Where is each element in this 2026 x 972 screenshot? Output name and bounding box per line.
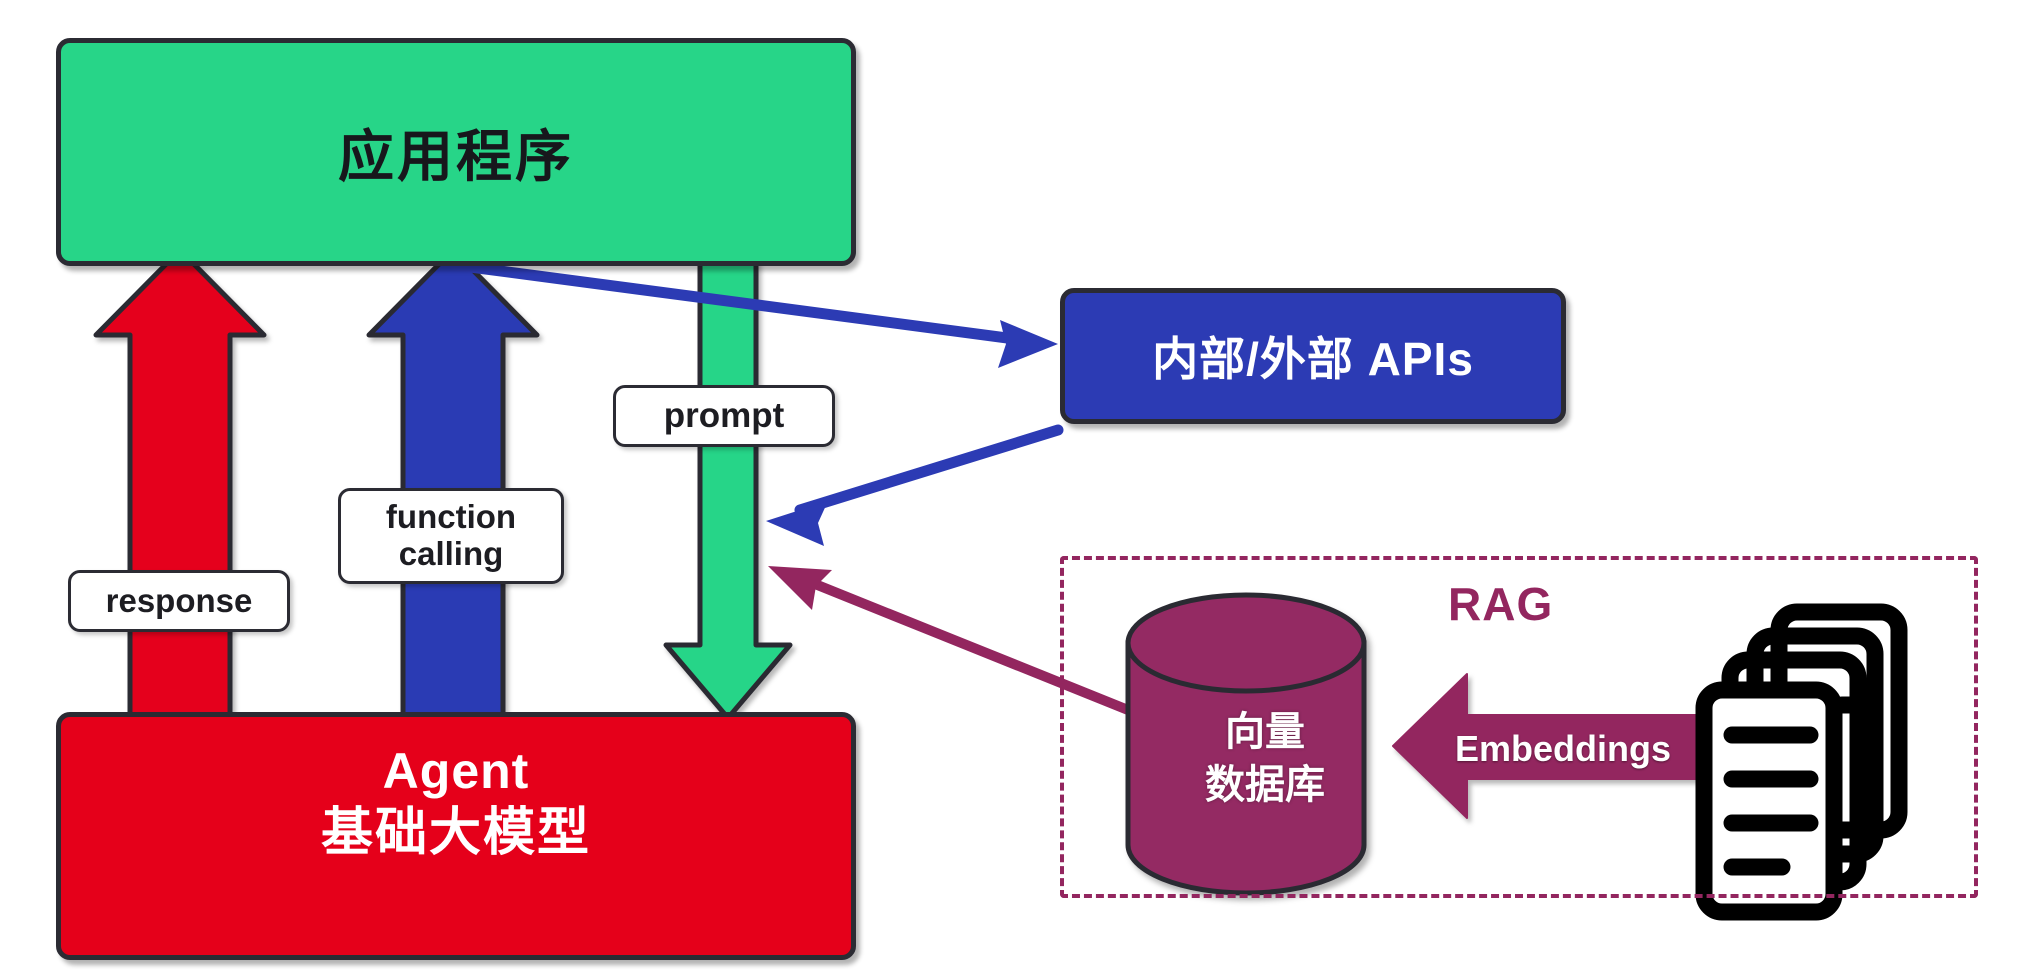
prompt-label-tag[interactable]: prompt (613, 385, 835, 447)
prompt-label-text: prompt (664, 396, 785, 435)
response-label-tag[interactable]: response (68, 570, 290, 632)
application-node[interactable]: 应用程序 (56, 38, 856, 266)
apis-label: 内部/外部 APIs (1152, 323, 1474, 389)
agent-node[interactable]: Agent 基础大模型 (56, 712, 856, 960)
apis-node[interactable]: 内部/外部 APIs (1060, 288, 1566, 424)
function-calling-label-line1: function (386, 499, 516, 536)
response-arrow (96, 250, 264, 730)
rag-group-label: RAG (1448, 577, 1553, 631)
diagram-canvas: 应用程序 Agent 基础大模型 内部/外部 APIs response fun… (0, 0, 2026, 972)
agent-label-line1: Agent (383, 741, 530, 802)
function-calling-label-tag[interactable]: function calling (338, 488, 564, 584)
agent-label-line2: 基础大模型 (321, 802, 591, 865)
prompt-arrow (666, 262, 790, 718)
application-label: 应用程序 (338, 112, 574, 193)
response-label-text: response (106, 583, 253, 620)
function-calling-label-line2: calling (399, 536, 504, 573)
apis-to-prompt-arrow (766, 430, 1058, 546)
